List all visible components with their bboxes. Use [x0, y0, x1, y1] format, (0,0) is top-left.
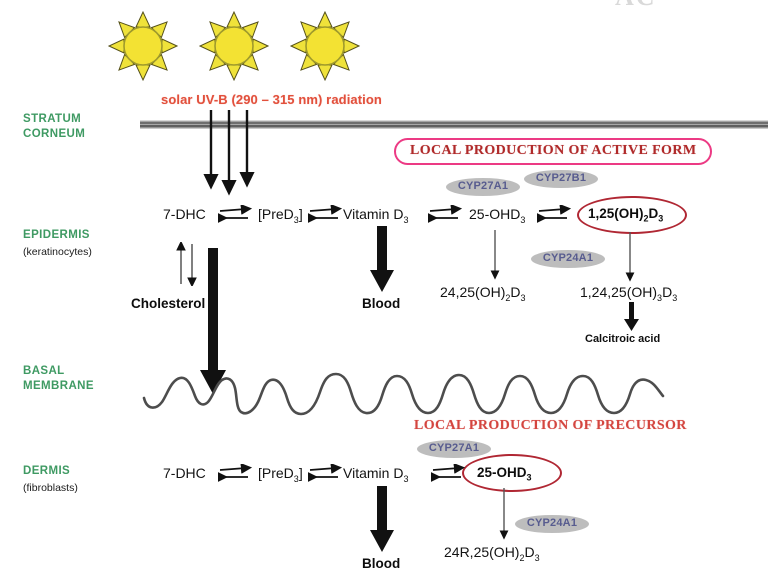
- metabolite-25ohd3-epidermis: 25-OHD3: [469, 206, 525, 225]
- equilibrium-arrow-d2: [308, 464, 344, 484]
- metabolite-pred3-epidermis: [PreD3]: [258, 206, 303, 225]
- arrow-to-calcitroic-acid: [623, 302, 641, 332]
- highlight-ellipse-active-form: [577, 196, 687, 234]
- equilibrium-arrow-e2: [308, 205, 344, 225]
- banner-local-production-precursor: LOCAL PRODUCTION OF PRECURSOR: [414, 418, 687, 434]
- product-calcitroic-acid: Calcitroic acid: [585, 333, 660, 345]
- enzyme-badge-cyp24a1-dermis: CYP24A1: [515, 515, 589, 533]
- uvb-radiation-label: solar UV-B (290 – 315 nm) radiation: [161, 92, 382, 107]
- basal-membrane-wave: [140, 358, 768, 422]
- layer-label-stratum-corneum: STRATUM CORNEUM: [23, 112, 143, 142]
- equilibrium-arrow-e1: [218, 205, 254, 225]
- equilibrium-arrow-d3: [431, 464, 467, 484]
- product-24r-25-oh-2-d3: 24R,25(OH)2D3: [444, 544, 540, 563]
- equilibrium-arrow-e4: [537, 205, 573, 225]
- layer-sublabel-epidermis: (keratinocytes): [23, 246, 143, 258]
- metabolite-vitamin-d3-dermis: Vitamin D3: [343, 465, 408, 484]
- sun-group: [103, 2, 368, 88]
- enzyme-badge-cyp27a1-epidermis: CYP27A1: [446, 178, 520, 196]
- layer-label-epidermis: EPIDERMIS: [23, 228, 143, 243]
- arrow-125ohd3-to-12425ohd3: [623, 232, 637, 284]
- enzyme-badge-cyp27b1-epidermis: CYP27B1: [524, 170, 598, 188]
- enzyme-badge-cyp24a1-epidermis: CYP24A1: [531, 250, 605, 268]
- arrow-25ohd3-to-24r2425ohd3: [497, 488, 511, 542]
- thick-arrow-vitd3-to-blood-epidermis: [370, 226, 396, 294]
- layer-label-basal-membrane: BASAL MEMBRANE: [23, 364, 143, 394]
- thick-arrow-vitd3-to-blood-dermis: [370, 486, 396, 554]
- metabolite-vitamin-d3-epidermis: Vitamin D3: [343, 206, 408, 225]
- diagram-canvas: AC: [0, 0, 768, 577]
- sun-icon-2: [200, 12, 268, 80]
- layer-sublabel-dermis: (fibroblasts): [23, 482, 143, 494]
- banner-local-production-active-form: LOCAL PRODUCTION OF ACTIVE FORM: [394, 138, 712, 165]
- left-gutter: [3, 0, 9, 577]
- cholesterol-reversible-arrows: [175, 242, 201, 286]
- product-24-25-oh-2-d3: 24,25(OH)2D3: [440, 284, 526, 303]
- equilibrium-arrow-d1: [218, 464, 254, 484]
- layer-label-dermis: DERMIS: [23, 464, 143, 479]
- product-1-24-25-oh-3-d3: 1,24,25(OH)3D3: [580, 284, 677, 303]
- sink-blood-dermis: Blood: [362, 556, 400, 571]
- metabolite-pred3-dermis: [PreD3]: [258, 465, 303, 484]
- sun-icon-3: [291, 12, 359, 80]
- sun-icon-1: [109, 12, 177, 80]
- metabolite-7dhc-epidermis: 7-DHC: [163, 206, 206, 222]
- uv-penetration-arrows: [203, 108, 271, 200]
- equilibrium-arrow-e3: [428, 205, 464, 225]
- metabolite-7dhc-dermis: 7-DHC: [163, 465, 206, 481]
- highlight-ellipse-precursor: [462, 454, 562, 492]
- enzyme-badge-cyp27a1-dermis: CYP27A1: [417, 440, 491, 458]
- watermark: AC: [615, 0, 657, 12]
- arrow-25ohd3-to-2425ohd3: [488, 230, 502, 282]
- sink-blood-epidermis: Blood: [362, 296, 400, 311]
- sink-cholesterol: Cholesterol: [131, 296, 205, 311]
